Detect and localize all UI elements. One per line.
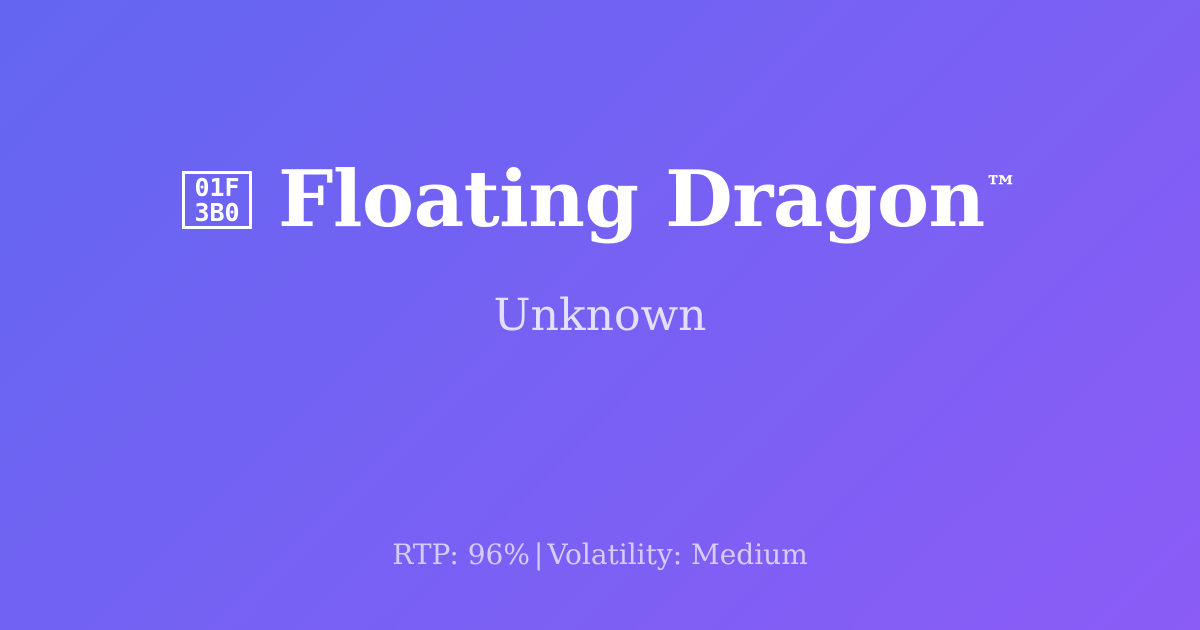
game-provider-subtitle: Unknown xyxy=(494,292,707,340)
meta-separator: | xyxy=(530,538,547,571)
card-footer: RTP: 96%|Volatility: Medium xyxy=(0,538,1200,572)
trademark-symbol: ™ xyxy=(985,168,1018,207)
volatility-value: Medium xyxy=(691,538,808,571)
game-meta-line: RTP: 96%|Volatility: Medium xyxy=(392,538,808,572)
page-title: Floating Dragon™ xyxy=(278,160,1018,240)
tofu-codepoint-line-2: 3B0 xyxy=(194,200,239,225)
rtp-value: 96% xyxy=(468,538,530,571)
hero-block: 01F 3B0 Floating Dragon™ Unknown xyxy=(0,0,1200,500)
tofu-codepoint-line-1: 01F xyxy=(194,175,239,200)
rtp-label: RTP: xyxy=(392,538,459,571)
game-og-card: 01F 3B0 Floating Dragon™ Unknown RTP: 96… xyxy=(0,0,1200,630)
game-title-text: Floating Dragon xyxy=(278,154,985,245)
volatility-label: Volatility: xyxy=(547,538,682,571)
title-row: 01F 3B0 Floating Dragon™ xyxy=(182,160,1018,240)
slot-machine-icon: 01F 3B0 xyxy=(182,171,252,229)
